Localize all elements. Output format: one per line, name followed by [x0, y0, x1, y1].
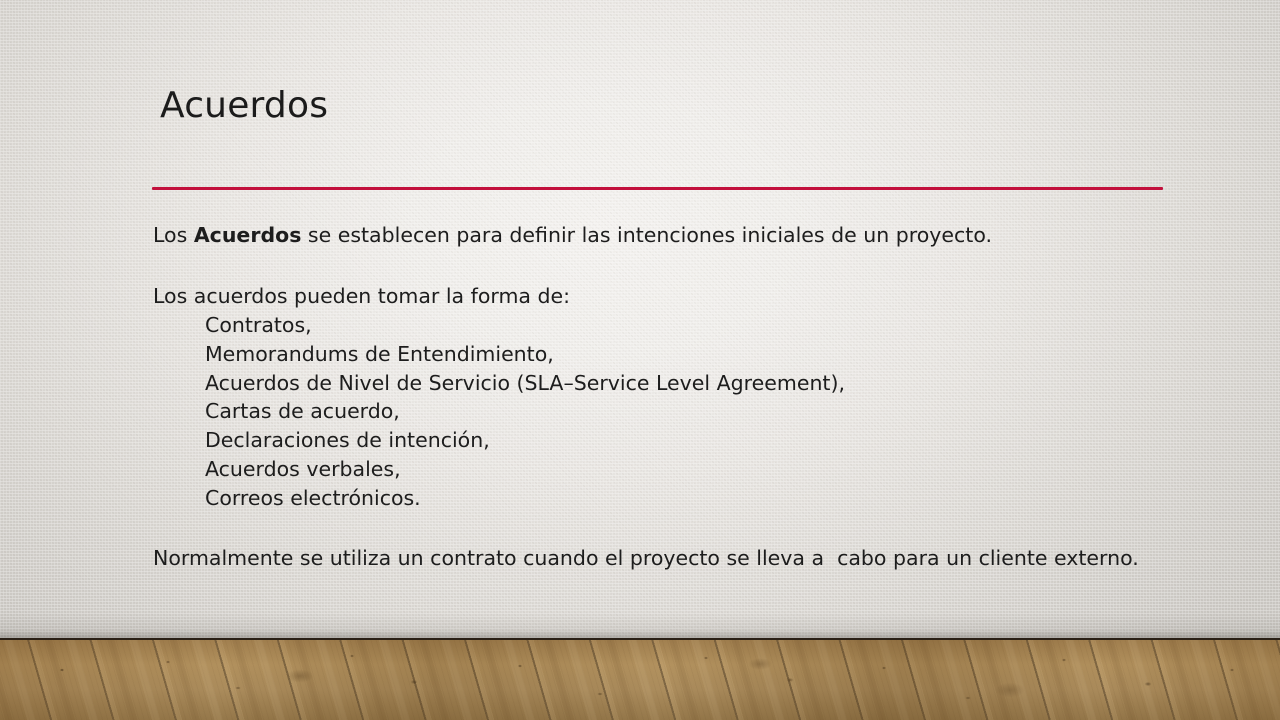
slide: Acuerdos Los Acuerdos se establecen para…: [0, 0, 1280, 720]
list-item: Correos electrónicos.: [153, 484, 1183, 513]
slide-body: Los Acuerdos se establecen para definir …: [153, 221, 1183, 573]
intro-paragraph: Los Acuerdos se establecen para definir …: [153, 221, 1183, 250]
title-divider-rule: [152, 187, 1163, 190]
intro-bold-term: Acuerdos: [194, 223, 302, 247]
closing-paragraph: Normalmente se utiliza un contrato cuand…: [153, 544, 1183, 573]
intro-suffix: se establecen para definir las intencion…: [301, 223, 992, 247]
list-item: Acuerdos verbales,: [153, 455, 1183, 484]
slide-title: Acuerdos: [160, 84, 328, 127]
wall-floor-shadow: [0, 612, 1280, 638]
paragraph-spacer-2: [153, 513, 1183, 544]
list-item: Declaraciones de intención,: [153, 426, 1183, 455]
lead-in-paragraph: Los acuerdos pueden tomar la forma de:: [153, 282, 1183, 311]
list-item: Cartas de acuerdo,: [153, 397, 1183, 426]
list-item: Memorandums de Entendimiento,: [153, 340, 1183, 369]
paragraph-spacer-1: [153, 250, 1183, 282]
floor-knots: [0, 640, 1280, 720]
list-item: Contratos,: [153, 311, 1183, 340]
agreement-types-list: Contratos, Memorandums de Entendimiento,…: [153, 311, 1183, 513]
wooden-floor: [0, 638, 1280, 720]
list-item: Acuerdos de Nivel de Servicio (SLA–Servi…: [153, 369, 1183, 398]
intro-prefix: Los: [153, 223, 194, 247]
